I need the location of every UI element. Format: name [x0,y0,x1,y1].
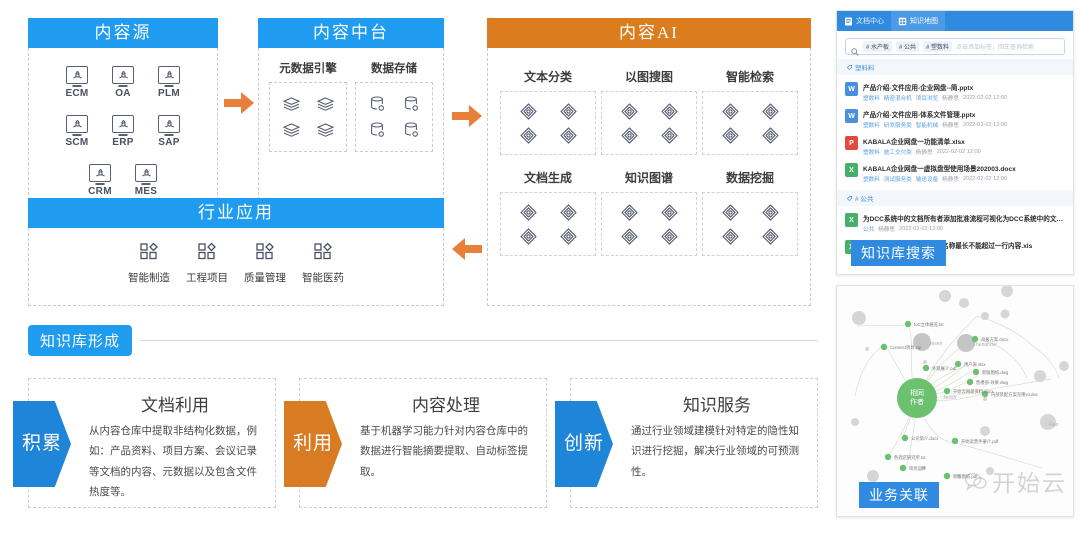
ai-capability[interactable]: 以图搜图 [601,68,697,155]
tab-bar: 文档中心 知识地图 [837,11,1073,31]
document-tag: 公共 [863,225,874,233]
list-item[interactable]: X 为DCC系统中的文档所有者添加批准流程可视化为DCC系统中的文档所有.doc… [845,209,1065,236]
document-tag: 施工交付类 [884,148,912,156]
group-label: 数据存储 [355,60,433,76]
document-search-screenshot: 文档中心 知识地图 # 水产板 # 公共 # 塑数料 点击添加标签，回车查询检索 [836,10,1074,275]
list-item[interactable]: W 产品介绍-文件应用-企业网盘--简.pptx 塑数料 精密混合机 项目浏览 … [845,78,1065,105]
ai-capability-label: 文本分类 [500,68,596,85]
document-tag: 塑数料 [863,94,880,102]
diamond-node-icon [710,224,750,248]
document-tag: 塑数料 [863,175,880,183]
ai-capability[interactable]: 智能检索 [702,68,798,155]
diamond-node-icon [508,224,548,248]
section-divider [140,340,818,341]
panel-content-platform: 内容中台 元数据引擎 数据存储 [258,18,444,200]
search-chip[interactable]: # 公共 [896,41,919,52]
document-tag: 研发服务类 [884,121,912,129]
panel-content-source: 内容源 ECM OA [28,18,218,200]
diamond-node-icon [649,200,689,224]
graph-node-label: 售楼部-效果.dwg [976,379,1009,386]
arrow-source-to-platform [224,92,254,114]
list-item[interactable]: P KABALA企业网盘一功能清单.xlsx 塑数料 施工交付类 杨静思 202… [845,132,1065,159]
diamond-node-icon [750,123,790,147]
diamond-node-icon [649,99,689,123]
graph-center-node [897,378,937,418]
file-type-badge: X [845,163,858,177]
diamond-node-icon [750,200,790,224]
document-name: KABALA企业网盘一虚拟盘型使用场景202003.docx [863,163,1065,173]
tab-knowledge-map[interactable]: 知识地图 [891,11,945,31]
kb-card-tag: 积累 [13,401,71,487]
industry-app-item[interactable]: 智能医药 [294,242,352,285]
layers-stack-icon [308,117,342,143]
industry-app-item[interactable]: 质量管理 [236,242,294,285]
diamond-node-icon [609,99,649,123]
svg-text:作者: 作者 [910,397,924,406]
graph-node-label: 开始运营手册介.pdf [961,438,999,445]
graph-node-label: Jeson [943,395,957,401]
document-author: 杨静思 [878,225,895,233]
group-header-2: # 公共 [837,190,1073,206]
document-name: KABALA企业网盘一功能清单.xlsx [863,136,1065,146]
map-icon [898,17,907,26]
kb-card-text: 从内容仓库中提取非结构化数据，例如：产品资料、项目方案、会议记录等文档的内容、元… [89,422,261,504]
watermark: 开始云 [964,464,1067,498]
layers-stack-icon [308,91,342,117]
source-item[interactable]: PLM [146,66,192,99]
knowledge-base-title: 知识库形成 [28,325,132,356]
diamond-node-icon [609,224,649,248]
kb-card-tag: 创新 [555,401,613,487]
source-item-label: SCM [54,137,100,148]
monitor-gear-icon [66,66,88,84]
diamond-node-icon [548,123,588,147]
platform-group-metadata[interactable]: 元数据引擎 [269,60,347,152]
document-author: 杨静思 [916,148,933,156]
list-item[interactable]: W 产品介绍-文件应用-体系文件管理.pptx 塑数料 研发服务类 智能机械 杨… [845,105,1065,132]
panel-title-content-ai: 内容AI [487,18,811,48]
document-name: 产品介绍-文件应用-体系文件管理.pptx [863,109,1065,119]
monitor-gear-icon [112,115,134,133]
source-item[interactable]: OA [100,66,146,99]
kb-card-title: 知识服务 [631,391,803,416]
search-chip[interactable]: # 塑数料 [923,41,952,52]
group-header-label: # 公共 [855,193,873,203]
source-item[interactable]: ERP [100,115,146,148]
document-tag: 输送设备 [916,175,938,183]
ai-capability-label: 文档生成 [500,169,596,186]
panel-title-content-source: 内容源 [28,18,218,48]
infographic-root: 内容源 ECM OA [0,0,1080,542]
source-item-label: OA [100,88,146,99]
file-type-badge: W [845,109,858,123]
grid-diamond-icon [294,242,352,265]
ai-capability[interactable]: 文档生成 [500,169,596,256]
source-item-label: CRM [77,186,123,197]
ai-capability-label: 以图搜图 [601,68,697,85]
source-item[interactable]: SCM [54,115,100,148]
kb-card[interactable]: 创新 知识服务 通过行业领域建模针对特定的隐性知识进行挖掘，解决行业领域的可预测… [570,378,818,508]
industry-app-item[interactable]: 工程项目 [178,242,236,285]
ai-capability-label: 智能检索 [702,68,798,85]
graph-node-label: Thenander [973,342,998,348]
panel-title-content-platform: 内容中台 [258,18,444,48]
graph-node-label: 内部装配方案克隆v4.doc [991,391,1039,398]
graph-node-label: Gao [1049,422,1059,428]
watermark-text: 开始云 [992,464,1067,498]
document-author: 杨静思 [942,121,959,129]
grid-diamond-icon [236,242,294,265]
panel-title-industry-apps: 行业应用 [28,198,444,228]
monitor-gear-icon [89,164,111,182]
graph-node-label: 项目运评 [909,465,927,472]
graph-node-label: 各酒店研究所.txt [894,454,926,461]
list-item[interactable]: X KABALA企业网盘一虚拟盘型使用场景202003.docx 塑数料 测试服… [845,159,1065,186]
document-tag: 精密混合机 [884,94,912,102]
source-item[interactable]: ECM [54,66,100,99]
kb-card[interactable]: 积累 文档利用 从内容仓库中提取非结构化数据，例如：产品资料、项目方案、会议记录… [28,378,276,508]
document-author: 杨静思 [942,94,959,102]
ai-capability-label: 知识图谱 [601,169,697,186]
grid-diamond-icon [120,242,178,265]
document-tag: 塑数料 [863,148,880,156]
diamond-node-icon [710,200,750,224]
diamond-node-icon [508,123,548,147]
monitor-gear-icon [112,66,134,84]
document-date: 2022-02-02 12:00 [963,95,1007,101]
diamond-node-icon [710,99,750,123]
search-icon [851,43,859,51]
document-date: 2022-02-02 12:00 [963,122,1007,128]
file-type-badge: W [845,82,858,96]
panel-content-ai: 内容AI 文本分类 以图搜图 [487,18,811,306]
document-icon [844,17,853,26]
diamond-node-icon [508,200,548,224]
diamond-node-icon [649,123,689,147]
kb-card-text: 基于机器学习能力针对内容仓库中的数据进行智能摘要提取、自动标签提取。 [360,422,532,483]
database-gear-icon [360,91,394,117]
database-gear-icon [394,91,428,117]
screenshot-column: 文档中心 知识地图 # 水产板 # 公共 # 塑数料 点击添加标签，回车查询检索 [836,10,1074,517]
group-header: 塑料料 [837,59,1073,75]
document-author: 杨静思 [942,175,959,183]
industry-app-label: 工程项目 [178,270,236,285]
caption-knowledge-search: 知识库搜索 [851,240,946,266]
kb-card-title: 文档利用 [89,391,261,416]
graph-node-label: Connect项目.zip [890,345,922,351]
tag-icon [847,65,852,70]
graph-node-label: Jesen [929,341,943,347]
chat-bubble-icon [964,471,988,491]
industry-app-item[interactable]: 智能制造 [120,242,178,285]
source-item[interactable]: SAP [146,115,192,148]
search-placeholder: 点击添加标签，回车查询检索 [956,42,1034,51]
diamond-node-icon [609,123,649,147]
layers-stack-icon [274,117,308,143]
platform-group-storage[interactable]: 数据存储 [355,60,433,152]
diamond-node-icon [750,224,790,248]
diamond-node-icon [750,99,790,123]
tag-icon [847,196,852,201]
industry-app-label: 智能医药 [294,270,352,285]
document-list: W 产品介绍-文件应用-企业网盘--简.pptx 塑数料 精密混合机 项目浏览 … [837,75,1073,186]
group-label: 元数据引擎 [269,60,347,76]
source-item-label: ECM [54,88,100,99]
source-item-label: ERP [100,137,146,148]
tab-label: 文档中心 [856,16,884,26]
panel-industry-apps: 行业应用 智能制造 工程项目 质量管理 [28,198,444,306]
knowledge-graph-screenshot: 相同 作者 [836,285,1074,517]
ai-capability[interactable]: 知识图谱 [601,169,697,256]
graph-node-label: 公司简介.docx [911,435,939,442]
diamond-node-icon [548,200,588,224]
content-source-icon-grid: ECM OA PLM [35,66,211,213]
graph-node-label: 新版图纸.dwg [982,369,1009,376]
kb-card-text: 通过行业领域建模针对特定的隐性知识进行挖掘，解决行业领域的可预测性。 [631,422,803,483]
knowledge-base-section: 知识库形成 积累 文档利用 从内容仓库中提取非结构化数据，例如：产品资料、项目方… [28,325,818,508]
database-gear-icon [360,117,394,143]
document-tag: 测试服务类 [884,175,912,183]
kb-card[interactable]: 利用 内容处理 基于机器学习能力针对内容仓库中的数据进行智能摘要提取、自动标签提… [299,378,547,508]
diamond-node-icon [609,200,649,224]
ai-capability[interactable]: 数据挖掘 [702,169,798,256]
diamond-node-icon [508,99,548,123]
file-type-badge: P [845,136,858,150]
kb-card-tag: 利用 [284,401,342,487]
ai-capability[interactable]: 文本分类 [500,68,596,155]
document-date: 2022-02-02 12:00 [937,149,981,155]
diamond-node-icon [649,224,689,248]
group-header-label: 塑料料 [855,62,875,72]
ai-capability-label: 数据挖掘 [702,169,798,186]
search-chip[interactable]: # 水产板 [863,41,892,52]
source-item-label: SAP [146,137,192,148]
monitor-gear-icon [158,115,180,133]
document-date: 2022-02-02 12:00 [963,176,1007,182]
diamond-node-icon [548,224,588,248]
file-type-badge: X [845,213,858,227]
arrow-platform-to-ai [452,105,482,127]
source-item-label: PLM [146,88,192,99]
grid-diamond-icon [178,242,236,265]
diamond-node-icon [710,123,750,147]
document-name: 产品介绍-文件应用-企业网盘--简.pptx [863,82,1065,92]
source-item[interactable]: CRM [77,164,123,197]
caption-business-relation: 业务关联 [859,482,939,508]
monitor-gear-icon [66,115,88,133]
tab-document-center[interactable]: 文档中心 [837,11,891,31]
monitor-gear-icon [158,66,180,84]
source-item-label: MES [123,186,169,197]
document-tag: 塑数料 [863,121,880,129]
kb-card-title: 内容处理 [360,391,532,416]
diamond-node-icon [548,99,588,123]
graph-node-label: toC立体展览.txt [914,321,944,328]
monitor-gear-icon [135,164,157,182]
architecture-diagram: 内容源 ECM OA [0,0,830,542]
tab-label: 知识地图 [910,16,938,26]
source-item[interactable]: MES [123,164,169,197]
database-gear-icon [394,117,428,143]
layers-stack-icon [274,91,308,117]
graph-node-label: 用户表.xlsx [964,361,986,368]
arrow-ai-to-apps [452,238,482,260]
search-input[interactable]: # 水产板 # 公共 # 塑数料 点击添加标签，回车查询检索 [845,38,1065,55]
document-date: 2022-02-02 12:00 [899,226,943,232]
svg-text:相同: 相同 [910,388,924,397]
document-tag: 项目浏览 [916,94,938,102]
graph-node-label: 开始云网盘资料.docx [953,388,994,395]
industry-app-label: 智能制造 [120,270,178,285]
document-name: 为DCC系统中的文档所有者添加批准流程可视化为DCC系统中的文档所有.doc [863,213,1065,223]
document-tag: 智能机械 [916,121,938,129]
graph-node-label: 外观展介.pdf [932,365,957,372]
industry-app-label: 质量管理 [236,270,294,285]
